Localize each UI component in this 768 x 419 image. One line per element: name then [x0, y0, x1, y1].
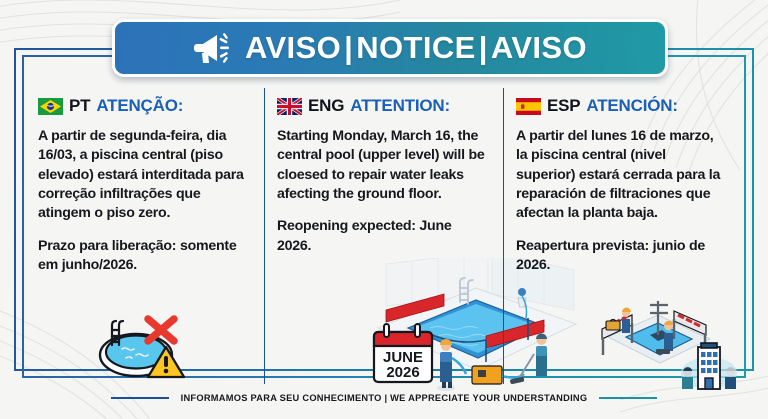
notice-paragraph-esp-1: A partir del lunes 16 de marzo, la pisci…: [516, 127, 728, 224]
notice-paragraph-eng-1: Starting Monday, March 16, the central p…: [277, 127, 489, 204]
notice-paragraph-eng-2: Reopening expected: June 2026.: [277, 217, 489, 256]
brazil-flag-icon: [38, 98, 63, 115]
footer-text: INFORMAMOS PARA SEU CONHECIMENTO | WE AP…: [181, 393, 588, 403]
notice-paragraph-pt-1: A partir de segunda-feira, dia 16/03, a …: [38, 127, 250, 224]
banner-title-es: AVISO: [491, 30, 587, 65]
footer-rule-right: [599, 397, 657, 399]
footer: INFORMAMOS PARA SEU CONHECIMENTO | WE AP…: [0, 388, 768, 408]
megaphone-icon: [193, 31, 235, 65]
banner-separator-1: |: [341, 30, 356, 65]
notice-column-pt: PT ATENÇÃO: A partir de segunda-feira, d…: [26, 88, 264, 384]
lang-code-esp: ESP: [547, 96, 580, 116]
footer-rule-left: [111, 397, 169, 399]
banner-title-pt: AVISO: [245, 30, 341, 65]
banner-title-en: NOTICE: [356, 30, 476, 65]
notice-paragraph-esp-2: Reapertura prevista: junio de 2026.: [516, 237, 728, 276]
banner-title: AVISO|NOTICE|AVISO: [245, 30, 587, 66]
notice-banner: AVISO|NOTICE|AVISO: [112, 19, 668, 77]
notice-paragraph-pt-2: Prazo para liberação: somente em junho/2…: [38, 237, 250, 276]
column-header-eng: ENG ATTENTION:: [277, 96, 489, 116]
attention-label-pt: ATENÇÃO:: [96, 96, 183, 116]
column-header-esp: ESP ATENCIÓN:: [516, 96, 728, 116]
column-header-pt: PT ATENÇÃO:: [38, 96, 250, 116]
lang-code-eng: ENG: [308, 96, 344, 116]
attention-label-esp: ATENCIÓN:: [586, 96, 677, 116]
lang-code-pt: PT: [69, 96, 90, 116]
notice-column-eng: ENG ATTENTION: Starting Monday, March 16…: [264, 88, 503, 384]
attention-label-eng: ATTENTION:: [350, 96, 450, 116]
notice-columns: PT ATENÇÃO: A partir de segunda-feira, d…: [26, 88, 742, 384]
notice-column-esp: ESP ATENCIÓN: A partir del lunes 16 de m…: [503, 88, 742, 384]
spain-flag-icon: [516, 98, 541, 115]
banner-separator-2: |: [476, 30, 491, 65]
uk-flag-icon: [277, 98, 302, 115]
